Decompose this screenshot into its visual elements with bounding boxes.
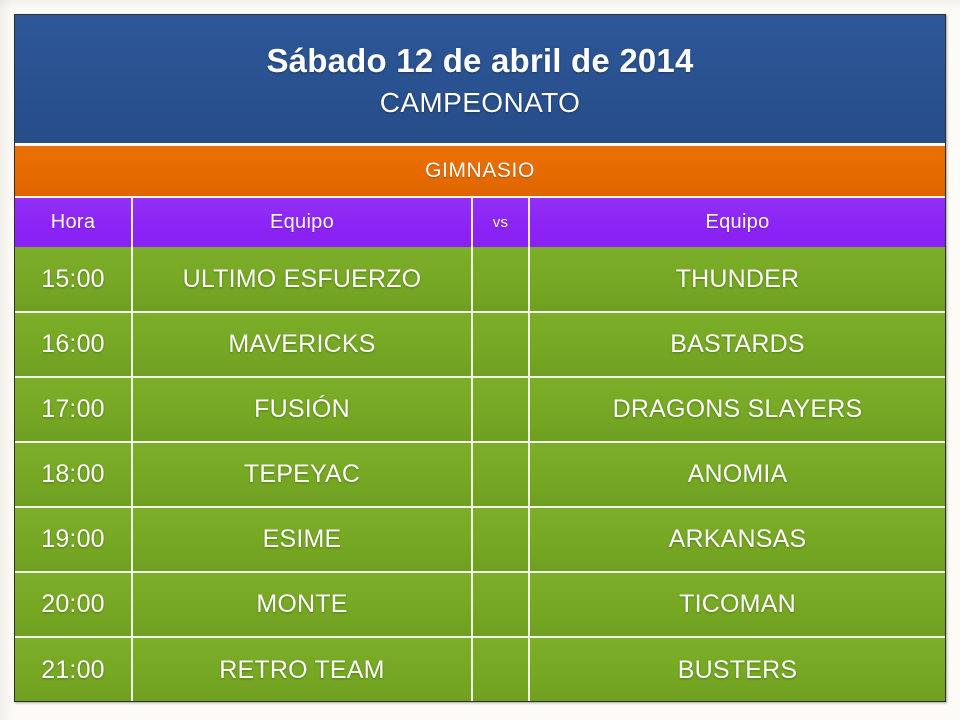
column-header-equipo-local: Equipo bbox=[132, 198, 472, 247]
cell-hora: 16:00 bbox=[15, 312, 132, 377]
cell-vs bbox=[472, 247, 529, 312]
table-header-row: Hora Equipo vs Equipo bbox=[15, 198, 945, 247]
page-title-event: CAMPEONATO bbox=[380, 85, 581, 121]
cell-hora: 17:00 bbox=[15, 377, 132, 442]
column-header-equipo-visitante: Equipo bbox=[529, 198, 945, 247]
cell-equipo-local: MAVERICKS bbox=[132, 312, 472, 377]
table-row: 18:00 TEPEYAC ANOMIA bbox=[15, 442, 945, 507]
cell-equipo-visitante: ARKANSAS bbox=[529, 507, 945, 572]
cell-hora: 19:00 bbox=[15, 507, 132, 572]
cell-equipo-visitante: BUSTERS bbox=[529, 637, 945, 702]
table-row: 16:00 MAVERICKS BASTARDS bbox=[15, 312, 945, 377]
cell-vs bbox=[472, 442, 529, 507]
table-header: Hora Equipo vs Equipo bbox=[15, 198, 945, 247]
cell-equipo-local: TEPEYAC bbox=[132, 442, 472, 507]
cell-hora: 15:00 bbox=[15, 247, 132, 312]
cell-equipo-local: ULTIMO ESFUERZO bbox=[132, 247, 472, 312]
cell-equipo-local: FUSIÓN bbox=[132, 377, 472, 442]
cell-equipo-visitante: THUNDER bbox=[529, 247, 945, 312]
table-row: 19:00 ESIME ARKANSAS bbox=[15, 507, 945, 572]
cell-vs bbox=[472, 572, 529, 637]
slide-canvas: Sábado 12 de abril de 2014 CAMPEONATO GI… bbox=[0, 0, 960, 720]
title-banner: Sábado 12 de abril de 2014 CAMPEONATO bbox=[15, 15, 945, 146]
cell-hora: 18:00 bbox=[15, 442, 132, 507]
cell-hora: 21:00 bbox=[15, 637, 132, 702]
schedule-board: Sábado 12 de abril de 2014 CAMPEONATO GI… bbox=[14, 14, 946, 702]
cell-equipo-local: RETRO TEAM bbox=[132, 637, 472, 702]
cell-equipo-local: MONTE bbox=[132, 572, 472, 637]
table-row: 17:00 FUSIÓN DRAGONS SLAYERS bbox=[15, 377, 945, 442]
cell-equipo-visitante: ANOMIA bbox=[529, 442, 945, 507]
table-row: 21:00 RETRO TEAM BUSTERS bbox=[15, 637, 945, 702]
cell-equipo-visitante: BASTARDS bbox=[529, 312, 945, 377]
table-row: 20:00 MONTE TICOMAN bbox=[15, 572, 945, 637]
cell-equipo-local: ESIME bbox=[132, 507, 472, 572]
venue-label: GIMNASIO bbox=[425, 159, 535, 183]
cell-equipo-visitante: DRAGONS SLAYERS bbox=[529, 377, 945, 442]
column-header-hora: Hora bbox=[15, 198, 132, 247]
column-header-vs: vs bbox=[472, 198, 529, 247]
cell-vs bbox=[472, 637, 529, 702]
cell-vs bbox=[472, 507, 529, 572]
page-title-date: Sábado 12 de abril de 2014 bbox=[266, 40, 693, 81]
venue-band: GIMNASIO bbox=[15, 146, 945, 198]
cell-vs bbox=[472, 312, 529, 377]
table-row: 15:00 ULTIMO ESFUERZO THUNDER bbox=[15, 247, 945, 312]
cell-vs bbox=[472, 377, 529, 442]
cell-hora: 20:00 bbox=[15, 572, 132, 637]
schedule-table: Hora Equipo vs Equipo 15:00 ULTIMO ESFUE… bbox=[15, 198, 945, 702]
table-body: 15:00 ULTIMO ESFUERZO THUNDER 16:00 MAVE… bbox=[15, 247, 945, 702]
cell-equipo-visitante: TICOMAN bbox=[529, 572, 945, 637]
